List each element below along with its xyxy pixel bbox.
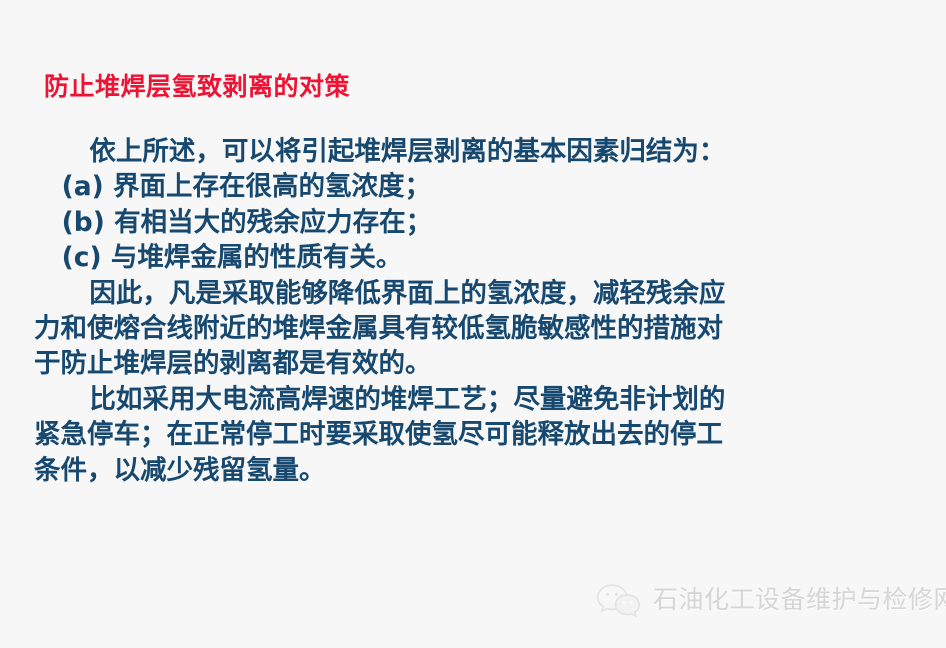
body-line: 依上所述，可以将引起堆焊层剥离的基本因素归结为： xyxy=(34,134,834,169)
body-line-item-b: (b) 有相当大的残余应力存在； xyxy=(34,205,834,240)
wechat-icon xyxy=(596,583,642,617)
body-line: 条件，以减少残留氢量。 xyxy=(34,453,834,488)
body-line: 力和使熔合线附近的堆焊金属具有较低氢脆敏感性的措施对 xyxy=(34,311,834,346)
body-line: 紧急停车；在正常停工时要采取使氢尽可能释放出去的停工 xyxy=(34,417,834,452)
page-title: 防止堆焊层氢致剥离的对策 xyxy=(44,70,350,104)
body-line: 比如采用大电流高焊速的堆焊工艺；尽量避免非计划的 xyxy=(34,382,834,417)
body-line: 因此，凡是采取能够降低界面上的氢浓度，减轻残余应 xyxy=(34,276,834,311)
watermark: 石油化工设备维护与检修网 xyxy=(596,583,946,617)
slide-canvas: 防止堆焊层氢致剥离的对策 依上所述，可以将引起堆焊层剥离的基本因素归结为： (a… xyxy=(0,0,946,648)
body-text-block: 依上所述，可以将引起堆焊层剥离的基本因素归结为： (a) 界面上存在很高的氢浓度… xyxy=(34,134,834,488)
body-line-item-a: (a) 界面上存在很高的氢浓度； xyxy=(34,169,834,204)
watermark-text: 石油化工设备维护与检修网 xyxy=(653,585,946,615)
body-line-item-c: (c) 与堆焊金属的性质有关。 xyxy=(34,240,834,275)
body-line: 于防止堆焊层的剥离都是有效的。 xyxy=(34,346,834,381)
